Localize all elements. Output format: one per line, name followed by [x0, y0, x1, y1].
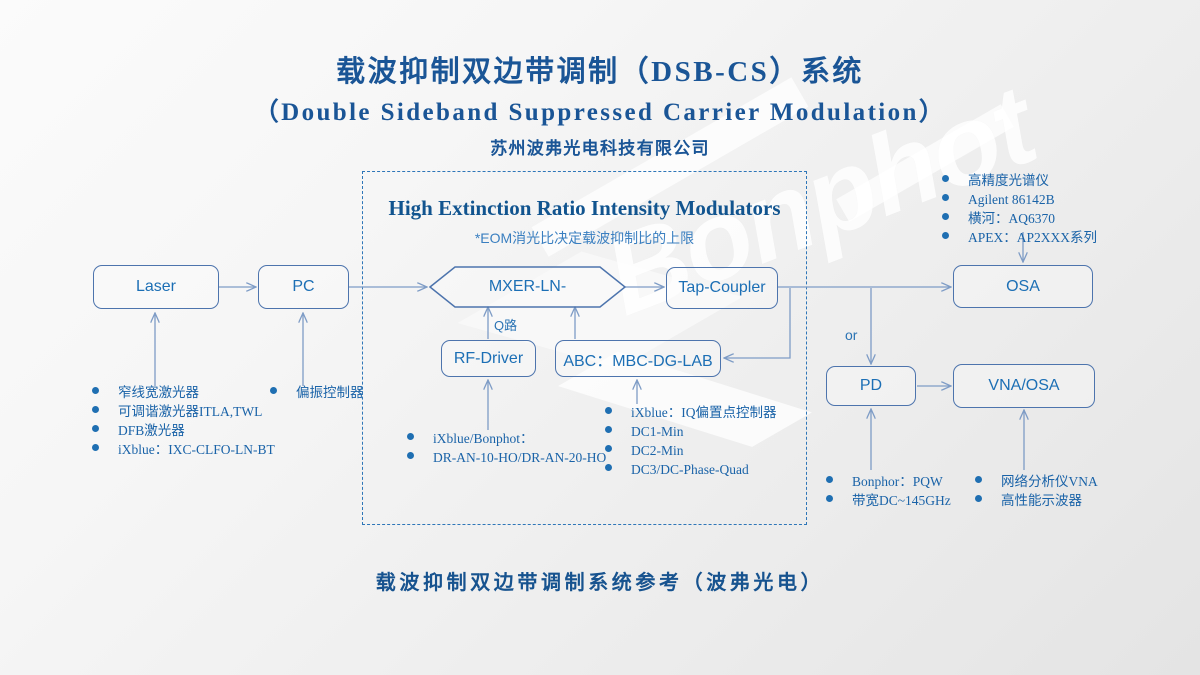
diagram-canvas: Bonphot 载波抑制双边带调制（DSB-CS）系统 （Double Side… — [0, 0, 1200, 675]
annotation-laser: 窄线宽激光器 可调谐激光器ITLA,TWL DFB激光器 iXblue：IXC-… — [92, 384, 275, 460]
edge-label-or: or — [845, 327, 857, 343]
list-item: Agilent 86142B — [942, 191, 1097, 208]
list-item: Bonphor：PQW — [826, 473, 951, 490]
edge-label-q-path: Q路 — [494, 315, 517, 334]
bullet-icon — [605, 464, 612, 471]
bullet-icon — [92, 406, 99, 413]
list-item: 高性能示波器 — [975, 492, 1098, 509]
bullet-icon — [942, 213, 949, 220]
connector-layer — [0, 0, 1200, 675]
annotation-rf-driver: iXblue/Bonphot： DR-AN-10-HO/DR-AN-20-HO — [407, 430, 606, 468]
node-vna-osa[interactable]: VNA/OSA — [953, 364, 1095, 408]
annotation-abc: iXblue：IQ偏置点控制器 DC1-Min DC2-Min DC3/DC-P… — [605, 404, 777, 480]
list-item: DR-AN-10-HO/DR-AN-20-HO — [407, 449, 606, 466]
list-item: iXblue/Bonphot： — [407, 430, 606, 447]
annotation-osa: 高精度光谱仪 Agilent 86142B 横河：AQ6370 APEX：AP2… — [942, 172, 1097, 248]
list-item: 带宽DC~145GHz — [826, 492, 951, 509]
bullet-icon — [942, 175, 949, 182]
list-item: 高精度光谱仪 — [942, 172, 1097, 189]
list-item: 横河：AQ6370 — [942, 210, 1097, 227]
bullet-icon — [605, 445, 612, 452]
node-pd[interactable]: PD — [826, 366, 916, 406]
list-item: APEX：AP2XXX系列 — [942, 229, 1097, 246]
bullet-icon — [92, 444, 99, 451]
bullet-icon — [826, 476, 833, 483]
bullet-icon — [605, 407, 612, 414]
node-abc[interactable]: ABC：MBC-DG-LAB — [555, 340, 721, 377]
bullet-icon — [92, 425, 99, 432]
bullet-icon — [826, 495, 833, 502]
annotation-pc: 偏振控制器 — [270, 384, 364, 403]
bullet-icon — [407, 452, 414, 459]
list-item: 网络分析仪VNA — [975, 473, 1098, 490]
list-item: DC3/DC-Phase-Quad — [605, 461, 777, 478]
list-item: iXblue：IXC-CLFO-LN-BT — [92, 441, 275, 458]
node-pc[interactable]: PC — [258, 265, 349, 309]
bullet-icon — [407, 433, 414, 440]
list-item: iXblue：IQ偏置点控制器 — [605, 404, 777, 421]
bullet-icon — [605, 426, 612, 433]
list-item: DC2-Min — [605, 442, 777, 459]
bullet-icon — [942, 194, 949, 201]
list-item: DFB激光器 — [92, 422, 275, 439]
bullet-icon — [270, 387, 277, 394]
node-tap-coupler[interactable]: Tap-Coupler — [666, 267, 778, 309]
list-item: 偏振控制器 — [270, 384, 364, 401]
list-item: DC1-Min — [605, 423, 777, 440]
node-rf-driver[interactable]: RF-Driver — [441, 340, 536, 377]
bullet-icon — [92, 387, 99, 394]
node-osa[interactable]: OSA — [953, 265, 1093, 308]
node-laser[interactable]: Laser — [93, 265, 219, 309]
list-item: 窄线宽激光器 — [92, 384, 275, 401]
annotation-pd: Bonphor：PQW 带宽DC~145GHz — [826, 473, 951, 511]
bullet-icon — [975, 495, 982, 502]
bullet-icon — [975, 476, 982, 483]
modulator-hexagon — [430, 267, 625, 307]
list-item: 可调谐激光器ITLA,TWL — [92, 403, 275, 420]
annotation-vna-osa: 网络分析仪VNA 高性能示波器 — [975, 473, 1098, 511]
bullet-icon — [942, 232, 949, 239]
